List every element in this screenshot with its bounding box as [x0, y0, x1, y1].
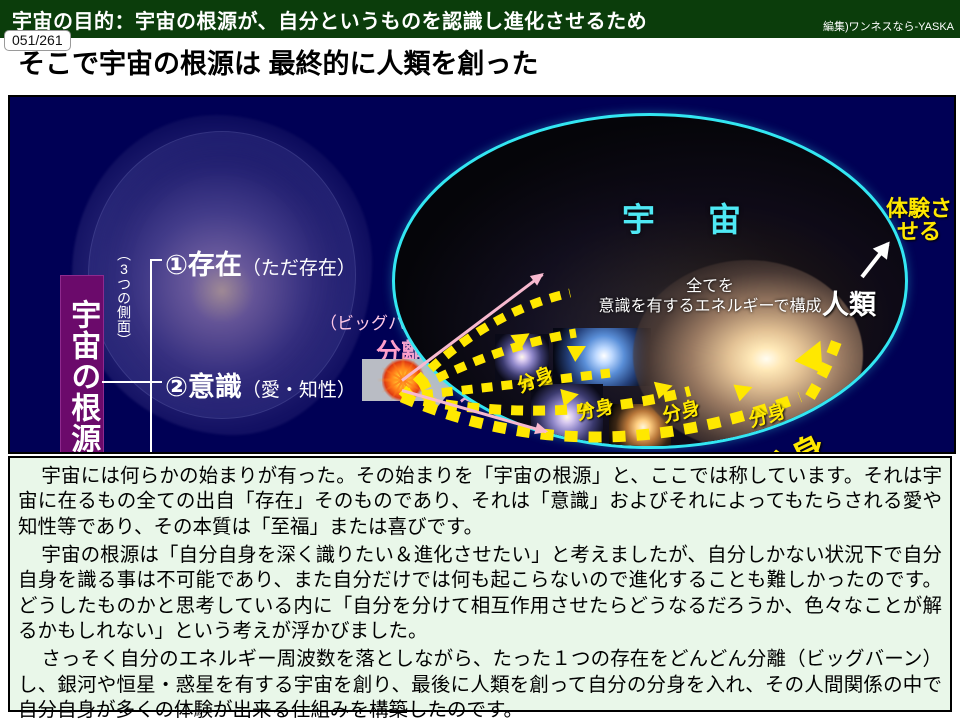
experience-label: 体験させる: [876, 197, 956, 243]
body-text-panel: 宇宙には何らかの始まりが有った。その始まりを「宇宙の根源」と、ここでは称していま…: [8, 456, 952, 712]
diagram-panel: 宇宙の根源 （3つの側面） ①存在（ただ存在） ②意識（愛・知性） ③至福（本質…: [8, 95, 956, 454]
humans-label: 人類: [822, 283, 876, 322]
body-paragraph-3: さっそく自分のエネルギー周波数を落としながら、たった１つの存在をどんどん分離（ビ…: [18, 647, 942, 723]
universe-title: 宇 宙: [622, 193, 751, 241]
page-counter-badge: 051/261: [4, 30, 71, 51]
slide-root: 宇宙の目的：宇宙の根源が、自分というものを認識し進化させるため 編集)ワンネスな…: [0, 0, 960, 720]
body-paragraph-1: 宇宙には何らかの始まりが有った。その始まりを「宇宙の根源」と、ここでは称していま…: [18, 464, 942, 540]
avatar-flow-arcs: [10, 97, 954, 452]
body-paragraph-2: 宇宙の根源は「自分自身を深く識りたい＆進化させたい」と考えましたが、自分しかない…: [18, 543, 942, 644]
header-credit: 編集)ワンネスなら-YASKA: [823, 18, 954, 34]
header-title: 宇宙の目的：宇宙の根源が、自分というものを認識し進化させるため: [12, 5, 647, 34]
header-bar: 宇宙の目的：宇宙の根源が、自分というものを認識し進化させるため 編集)ワンネスな…: [0, 0, 960, 38]
page-title: そこで宇宙の根源は 最終的に人類を創った: [18, 42, 539, 81]
